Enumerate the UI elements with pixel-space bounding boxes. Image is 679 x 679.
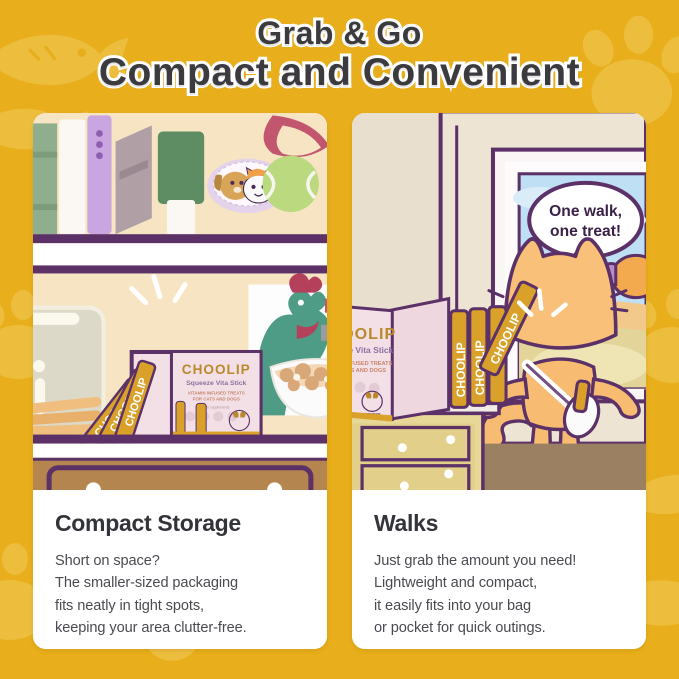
pantry-item-white-bottle (59, 119, 85, 234)
page-title-line-2: Compact and Convenient (99, 52, 580, 94)
pantry-item-tennis-ball (263, 156, 319, 212)
page-header: Grab & Go Compact and Convenient (0, 0, 679, 110)
card-title-walks: Walks (374, 510, 624, 537)
feature-cards: CHOOLIP CHOOLIP CHOOLIP (33, 113, 646, 649)
svg-text:with supplements: with supplements (203, 405, 230, 409)
svg-text:FOR CATS AND DOGS: FOR CATS AND DOGS (193, 396, 240, 401)
pantry-item-purple-bottle (87, 115, 111, 234)
drawer (33, 458, 327, 491)
card-body-walks: Just grab the amount you need! Lightweig… (374, 550, 624, 639)
pantry-shelf-svg: CHOOLIP CHOOLIP CHOOLIP (33, 113, 327, 490)
svg-text:FOR CATS AND DOGS: FOR CATS AND DOGS (352, 368, 386, 374)
illustration-pantry-shelf: CHOOLIP CHOOLIP CHOOLIP (33, 113, 327, 490)
svg-text:CHOOLIP: CHOOLIP (352, 325, 396, 343)
doorway-walk-svg: One walk, one treat! (352, 113, 646, 490)
card-body-compact-storage: Short on space? The smaller-sized packag… (55, 550, 305, 639)
card-walks: One walk, one treat! (352, 113, 646, 649)
card-text-compact-storage: Compact Storage Short on space? The smal… (33, 490, 327, 649)
pantry-item-green-box (33, 123, 57, 234)
svg-text:CHOOLIP: CHOOLIP (182, 362, 251, 377)
svg-text:VITAMIN INFUSED TREATS: VITAMIN INFUSED TREATS (352, 361, 393, 367)
page-title-line-1: Grab & Go (257, 16, 422, 51)
svg-text:One walk,: One walk, (549, 203, 622, 220)
shelf-gap (33, 243, 327, 265)
card-title-compact-storage: Compact Storage (55, 510, 305, 537)
illustration-doorway-walk: One walk, one treat! (352, 113, 646, 490)
svg-text:CHOOLIP: CHOOLIP (454, 342, 468, 397)
shelf-board-top (33, 234, 327, 243)
svg-text:Squeeze Vita Stick: Squeeze Vita Stick (352, 345, 394, 355)
card-compact-storage: CHOOLIP CHOOLIP CHOOLIP (33, 113, 327, 649)
svg-text:Squeeze Vita Stick: Squeeze Vita Stick (186, 380, 246, 387)
card-text-walks: Walks Just grab the amount you need! Lig… (352, 490, 646, 649)
shelf-board-bottom (33, 265, 327, 273)
pantry-item-gray-box (116, 125, 152, 234)
svg-text:VITAMIN INFUSED TREATS: VITAMIN INFUSED TREATS (188, 390, 245, 395)
